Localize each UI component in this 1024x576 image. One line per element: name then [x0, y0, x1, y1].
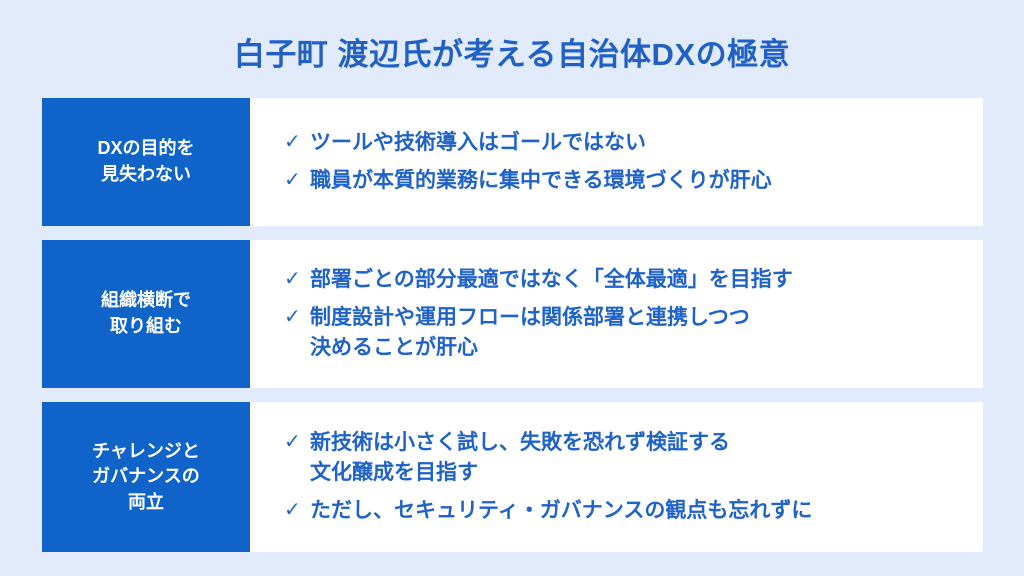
- check-icon: ✓: [284, 265, 310, 293]
- principle-label-line: 取り組む: [110, 314, 182, 340]
- bullet-text-primary: 新技術は小さく試し、失敗を恐れず検証する: [310, 431, 730, 454]
- bullet-text: ただし、セキュリティ・ガバナンスの観点も忘れずに: [310, 496, 971, 526]
- principle-card: DXの目的を 見失わない ✓ ツールや技術導入はゴールではない ✓ 職員が本質的…: [42, 98, 983, 226]
- principle-label-line: 両立: [128, 490, 164, 516]
- bullet-text: ツールや技術導入はゴールではない: [310, 128, 971, 158]
- principle-body: ✓ 新技術は小さく試し、失敗を恐れず検証する 文化醸成を目指す ✓ ただし、セキ…: [250, 402, 983, 552]
- principles-list: DXの目的を 見失わない ✓ ツールや技術導入はゴールではない ✓ 職員が本質的…: [42, 98, 983, 552]
- check-icon: ✓: [284, 128, 310, 156]
- bullet-text-continuation: 決めることが肝心: [310, 333, 971, 363]
- principle-card: チャレンジと ガバナンスの 両立 ✓ 新技術は小さく試し、失敗を恐れず検証する …: [42, 402, 983, 552]
- check-icon: ✓: [284, 496, 310, 524]
- principle-label-block: 組織横断で 取り組む: [42, 240, 250, 388]
- principle-body: ✓ ツールや技術導入はゴールではない ✓ 職員が本質的業務に集中できる環境づくり…: [250, 98, 983, 226]
- bullet-text: 制度設計や運用フローは関係部署と連携しつつ 決めることが肝心: [310, 303, 971, 363]
- bullet-text: 部署ごとの部分最適ではなく「全体最適」を目指す: [310, 265, 971, 295]
- principle-card: 組織横断で 取り組む ✓ 部署ごとの部分最適ではなく「全体最適」を目指す ✓ 制…: [42, 240, 983, 388]
- bullet-text-continuation: 文化醸成を目指す: [310, 458, 971, 488]
- bullet-item: ✓ 部署ごとの部分最適ではなく「全体最適」を目指す: [284, 265, 971, 295]
- page-title: 白子町 渡辺氏が考える自治体DXの極意: [0, 29, 1024, 74]
- principle-label-line: ガバナンスの: [92, 464, 200, 490]
- principle-label-line: DXの目的を: [97, 136, 194, 162]
- principle-label-line: 組織横断で: [101, 288, 191, 314]
- principle-body: ✓ 部署ごとの部分最適ではなく「全体最適」を目指す ✓ 制度設計や運用フローは関…: [250, 240, 983, 388]
- slide-root: 白子町 渡辺氏が考える自治体DXの極意 DXの目的を 見失わない ✓ ツールや技…: [0, 0, 1024, 576]
- principle-label-block: チャレンジと ガバナンスの 両立: [42, 402, 250, 552]
- bullet-item: ✓ ただし、セキュリティ・ガバナンスの観点も忘れずに: [284, 496, 971, 526]
- principle-label-line: 見失わない: [101, 162, 191, 188]
- bullet-item: ✓ 職員が本質的業務に集中できる環境づくりが肝心: [284, 166, 971, 196]
- principle-label-block: DXの目的を 見失わない: [42, 98, 250, 226]
- check-icon: ✓: [284, 303, 310, 331]
- bullet-item: ✓ ツールや技術導入はゴールではない: [284, 128, 971, 158]
- bullet-item: ✓ 新技術は小さく試し、失敗を恐れず検証する 文化醸成を目指す: [284, 428, 971, 488]
- check-icon: ✓: [284, 166, 310, 194]
- bullet-text: 職員が本質的業務に集中できる環境づくりが肝心: [310, 166, 971, 196]
- bullet-text-primary: 制度設計や運用フローは関係部署と連携しつつ: [310, 306, 750, 329]
- principle-label-line: チャレンジと: [92, 439, 200, 465]
- bullet-item: ✓ 制度設計や運用フローは関係部署と連携しつつ 決めることが肝心: [284, 303, 971, 363]
- bullet-text: 新技術は小さく試し、失敗を恐れず検証する 文化醸成を目指す: [310, 428, 971, 488]
- check-icon: ✓: [284, 428, 310, 456]
